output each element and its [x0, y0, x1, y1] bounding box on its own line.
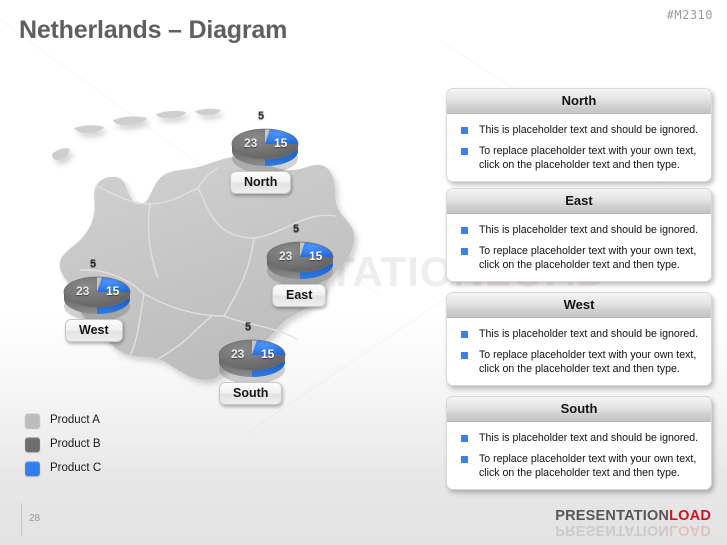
legend-label-product-a: Product A — [50, 414, 100, 426]
slide-canvas: PRESENTATIONLOAD Netherlands – Diagram #… — [0, 0, 727, 545]
legend: Product A Product B Product C — [25, 408, 101, 480]
legend-swatch-product-b — [25, 437, 40, 452]
region-label-east[interactable]: East — [272, 284, 326, 307]
pie-chart-north[interactable]: 5 23 15 — [229, 124, 301, 174]
brand-reflect-part2: LOAD — [669, 522, 711, 538]
bullet-square-icon — [461, 456, 468, 463]
legend-label-product-b: Product B — [50, 438, 101, 450]
bullet-square-icon — [461, 435, 468, 442]
infobox-title-east: East — [447, 189, 711, 214]
bullet-square-icon — [461, 148, 468, 155]
legend-label-product-c: Product C — [50, 462, 101, 474]
bullet-text: To replace placeholder text with your ow… — [479, 348, 701, 376]
infobox-west[interactable]: West This is placeholder text and should… — [446, 292, 712, 386]
region-label-south[interactable]: South — [219, 382, 282, 405]
bullet-square-icon — [461, 227, 468, 234]
pie-chart-east[interactable]: 5 23 15 — [264, 237, 336, 287]
legend-item-product-c[interactable]: Product C — [25, 456, 101, 480]
infobox-body-north: This is placeholder text and should be i… — [447, 114, 711, 181]
region-label-north[interactable]: North — [230, 171, 291, 194]
legend-swatch-product-a — [25, 413, 40, 428]
bullet-item[interactable]: This is placeholder text and should be i… — [459, 123, 701, 137]
legend-item-product-b[interactable]: Product B — [25, 432, 101, 456]
bullet-item[interactable]: To replace placeholder text with your ow… — [459, 348, 701, 376]
bullet-square-icon — [461, 248, 468, 255]
bullet-square-icon — [461, 331, 468, 338]
bullet-text: This is placeholder text and should be i… — [479, 223, 698, 237]
bullet-item[interactable]: To replace placeholder text with your ow… — [459, 244, 701, 272]
infobox-body-east: This is placeholder text and should be i… — [447, 214, 711, 281]
bullet-text: To replace placeholder text with your ow… — [479, 144, 701, 172]
brand-reflect-part1: PRESENTATION — [555, 522, 669, 538]
pie-svg — [61, 272, 133, 322]
pie-chart-west[interactable]: 5 23 15 — [61, 272, 133, 322]
infobox-north[interactable]: North This is placeholder text and shoul… — [446, 88, 712, 182]
bullet-item[interactable]: This is placeholder text and should be i… — [459, 431, 701, 445]
pie-svg — [216, 335, 288, 385]
bullet-square-icon — [461, 127, 468, 134]
bullet-square-icon — [461, 352, 468, 359]
infobox-body-west: This is placeholder text and should be i… — [447, 318, 711, 385]
legend-item-product-a[interactable]: Product A — [25, 408, 101, 432]
page-title: Netherlands – Diagram — [19, 16, 287, 45]
infobox-title-south: South — [447, 397, 711, 422]
legend-swatch-product-c — [25, 461, 40, 476]
bullet-item[interactable]: To replace placeholder text with your ow… — [459, 144, 701, 172]
bullet-text: This is placeholder text and should be i… — [479, 327, 698, 341]
pie-svg — [264, 237, 336, 287]
footer-divider — [21, 503, 22, 537]
pie-svg — [229, 124, 301, 174]
infobox-east[interactable]: East This is placeholder text and should… — [446, 188, 712, 282]
bullet-item[interactable]: This is placeholder text and should be i… — [459, 327, 701, 341]
bullet-item[interactable]: To replace placeholder text with your ow… — [459, 452, 701, 480]
infobox-body-south: This is placeholder text and should be i… — [447, 422, 711, 489]
infobox-title-north: North — [447, 89, 711, 114]
bullet-text: This is placeholder text and should be i… — [479, 431, 698, 445]
infobox-south[interactable]: South This is placeholder text and shoul… — [446, 396, 712, 490]
bullet-item[interactable]: This is placeholder text and should be i… — [459, 223, 701, 237]
bullet-text: To replace placeholder text with your ow… — [479, 452, 701, 480]
page-number: 28 — [29, 513, 40, 524]
brand-logo-reflection: PRESENTATIONLOAD — [555, 522, 711, 538]
bullet-text: This is placeholder text and should be i… — [479, 123, 698, 137]
region-label-west[interactable]: West — [65, 319, 123, 342]
pie-chart-south[interactable]: 5 23 15 — [216, 335, 288, 385]
document-code: #M2310 — [667, 8, 713, 22]
infobox-title-west: West — [447, 293, 711, 318]
bullet-text: To replace placeholder text with your ow… — [479, 244, 701, 272]
